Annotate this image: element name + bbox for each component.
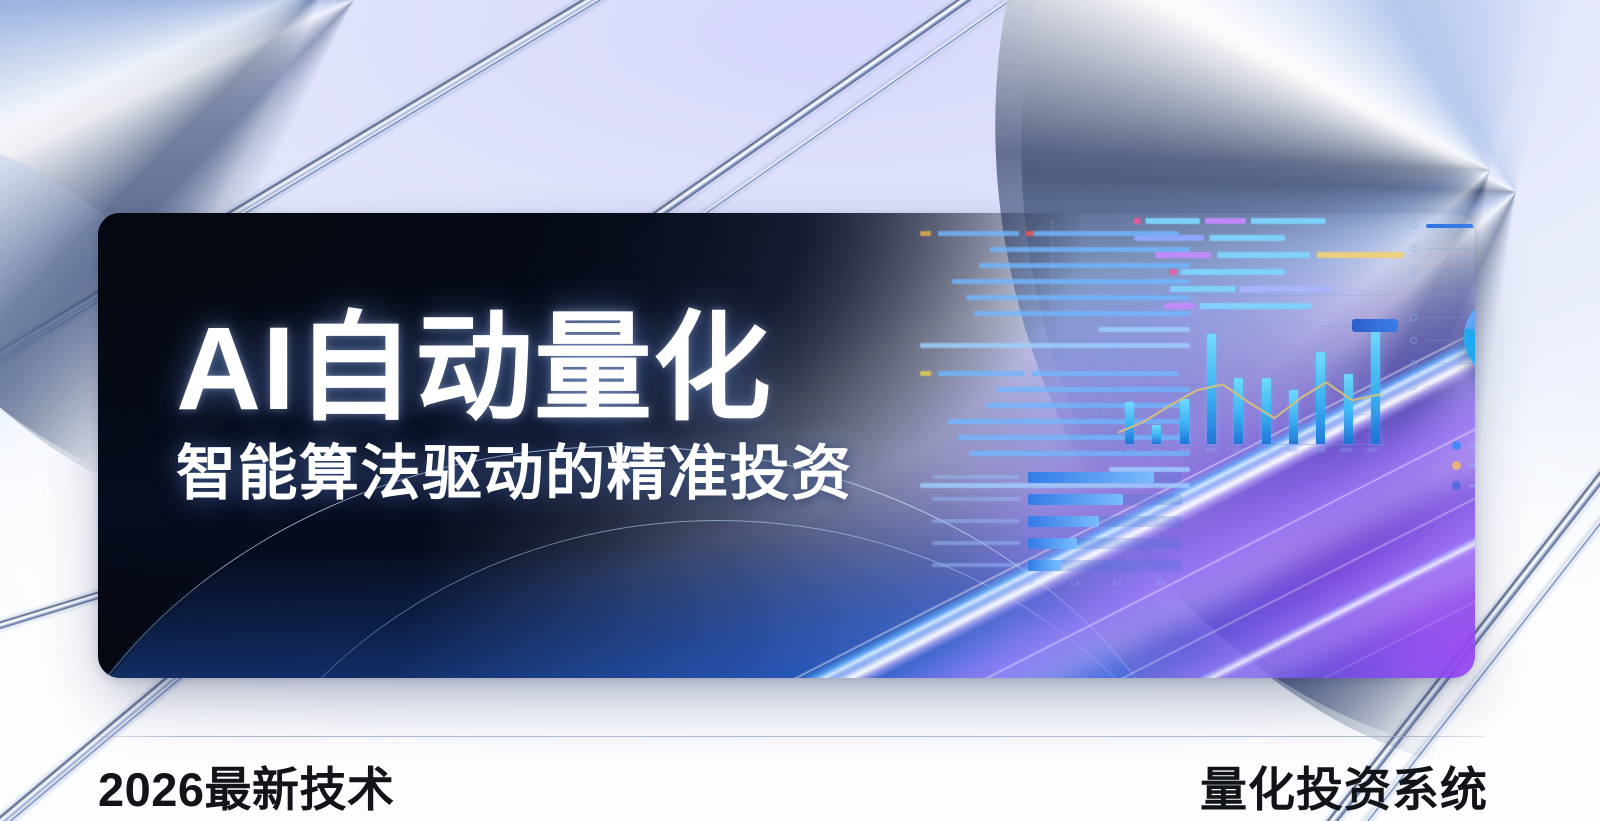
page-subtitle: 智能算法驱动的精准投资 [176, 442, 853, 507]
x-tick-label: 6/17 [1152, 448, 1164, 454]
legend-swatch [1452, 441, 1461, 450]
list-item [1410, 359, 1475, 368]
legend-item [1452, 481, 1475, 490]
hbar-track [1028, 560, 1182, 571]
x-tick-label: 0 [1029, 581, 1032, 587]
list-item [1410, 313, 1475, 322]
trend-line [1115, 295, 1384, 444]
legend-item [1452, 461, 1475, 470]
y-tick-label: 1.60 [1096, 411, 1109, 417]
bullet-icon [1410, 291, 1417, 298]
bar-chart-panel: 0.070 2.30 0.20 0.60 1.60 0 6/3 [1114, 295, 1384, 445]
list-item [1410, 221, 1475, 230]
x-tick-label: 5/14 [1233, 448, 1245, 454]
x-tick-label: 6/65 [1287, 448, 1299, 454]
headline-block: AI自动量化 智能算法驱动的精准投资 [176, 310, 853, 507]
y-tick-label: 0.60 [1096, 381, 1109, 387]
hbar-row [932, 559, 1182, 571]
bullet-icon [1410, 268, 1417, 275]
list-item [1410, 382, 1475, 391]
x-tick-label: 6/3 [1127, 448, 1135, 454]
hbar-track [1028, 472, 1182, 483]
x-tick-label: 1.1 [1113, 581, 1121, 587]
horizontal-bar-chart: 0 1.3 1.1 3.6 [932, 471, 1182, 591]
bullet-icon [1410, 383, 1417, 390]
hbar-label [932, 563, 1020, 567]
hero-banner-card: 0.070 2.30 0.20 0.60 1.60 0 6/3 [98, 213, 1475, 678]
chart-badge-chip[interactable] [1352, 319, 1398, 332]
page-title: AI自动量化 [176, 310, 853, 428]
x-tick-label: 1.3 [1070, 581, 1078, 587]
hbar-track [1028, 538, 1182, 549]
pie-legend [1452, 441, 1475, 501]
right-list-panel [1410, 221, 1475, 405]
hbar-track [1028, 516, 1182, 527]
x-tick-label: 4/15 [1206, 448, 1218, 454]
legend-item [1452, 441, 1475, 450]
hbar-axis: 0 1.3 1.1 3.6 [1028, 581, 1182, 591]
y-tick-label: 2.30 [1096, 322, 1109, 328]
x-tick-label: 5/19 [1314, 448, 1326, 454]
hbar-row [932, 471, 1182, 483]
list-item [1410, 267, 1475, 276]
x-tick-label: 6/67 [1367, 448, 1379, 454]
x-tick-label: 6/29 [1179, 448, 1191, 454]
y-tick-label: 0.20 [1096, 352, 1109, 358]
bullet-icon [1410, 337, 1417, 344]
hbar-row [932, 493, 1182, 505]
hbar-row [932, 515, 1182, 527]
hbar-label [932, 497, 1020, 501]
dashboard-topbar [1410, 213, 1475, 215]
x-tick-label: 6/66 [1340, 448, 1352, 454]
footer-divider [95, 736, 1485, 737]
hbar-label [932, 541, 1020, 545]
list-item [1410, 244, 1475, 253]
legend-swatch [1452, 461, 1461, 470]
footer-left-label: 2026最新技术 [98, 751, 395, 820]
bullet-icon [1410, 245, 1417, 252]
hbar-label [932, 519, 1020, 523]
bullet-icon [1410, 360, 1417, 367]
dashed-divider [1052, 221, 1053, 317]
hbar-row [932, 537, 1182, 549]
bullet-icon [1410, 222, 1417, 229]
y-tick-label: 0.070 [1092, 292, 1109, 298]
hbar-label [932, 475, 1020, 479]
y-tick-label: 0 [1105, 441, 1109, 447]
x-tick-label: 3.6 [1156, 581, 1164, 587]
bullet-icon [1410, 314, 1417, 321]
dashboard-mockup: 0.070 2.30 0.20 0.60 1.60 0 6/3 [824, 213, 1475, 678]
hbar-track [1028, 494, 1182, 505]
list-item [1410, 290, 1475, 299]
footer-right-label: 量化投资系统 [1200, 751, 1488, 820]
x-tick-label: 5/50 [1260, 448, 1272, 454]
legend-swatch [1452, 481, 1461, 490]
